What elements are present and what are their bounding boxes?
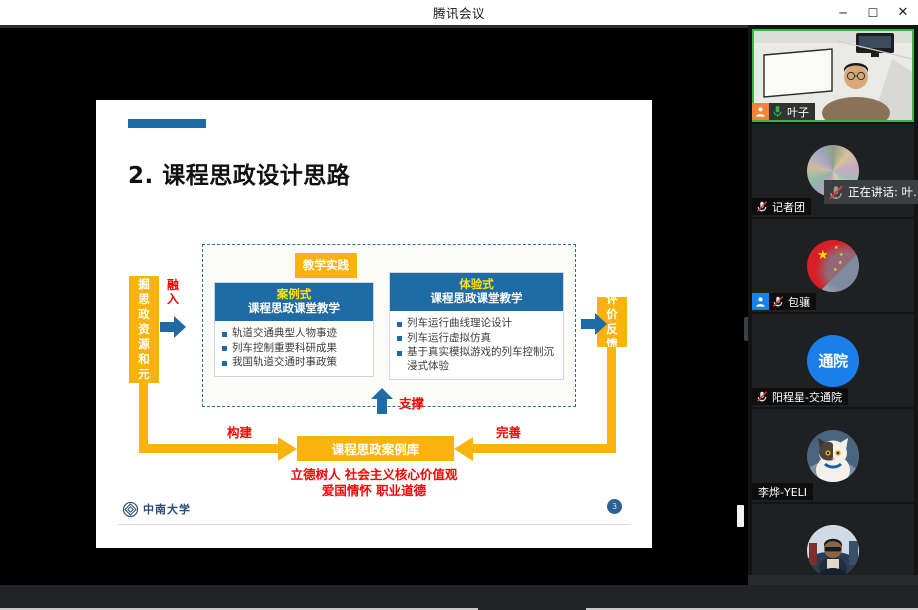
evaluation-box-label: 评价反馈 (605, 292, 619, 352)
title-bar: 腾讯会议 ─ ☐ ✕ (0, 0, 918, 25)
stage-top-strip (0, 25, 748, 28)
bullet-text: 轨道交通典型人物事迹 (232, 327, 337, 341)
bullet-square-icon (222, 361, 227, 366)
flow-line-right-horizontal (466, 444, 616, 453)
participant-rail[interactable]: 叶子 记者团 ★ ★ (748, 25, 918, 585)
bullet-text: 列车运行曲线理论设计 (407, 317, 512, 331)
bullet-text: 基于真实模拟游戏的列车控制沉浸式体验 (407, 346, 558, 373)
slogan-line-2: 爱国情怀 职业道德 (96, 483, 652, 499)
mic-on-icon (772, 105, 783, 118)
bullet-square-icon (222, 332, 227, 337)
bullet-item: 列车运行虚拟仿真 (397, 332, 558, 346)
card-experiential-sub: 课程思政课堂教学 (394, 291, 559, 306)
avatar: 通院 (807, 335, 859, 387)
university-logo-block: 中南大学 (123, 501, 191, 517)
star-icon: ★ (839, 252, 843, 258)
bullet-square-icon (397, 322, 402, 327)
flow-line-right-vertical (607, 347, 616, 449)
label-integrate: 融入 (166, 278, 180, 306)
participant-name: 包骧 (788, 294, 810, 310)
card-experiential-key: 体验式 (394, 277, 559, 291)
flow-line-left-horizontal (139, 444, 284, 453)
case-library-box: 课程思政案例库 (297, 436, 454, 461)
mic-muted-icon (828, 184, 844, 201)
window-controls: ─ ☐ ✕ (828, 0, 918, 25)
maximize-icon[interactable]: ☐ (858, 0, 888, 25)
slide-title: 2. 课程思政设计思路 (128, 156, 350, 190)
speaking-tooltip-text: 正在讲话: 叶… (848, 184, 918, 200)
participant-name: 李烨-YELI (758, 484, 807, 500)
participant-nameplate: 李烨-YELI (752, 483, 813, 500)
card-experiential-header: 体验式 课程思政课堂教学 (390, 273, 563, 311)
participant-tile[interactable]: 通院 阳程星-交通院 (752, 314, 914, 407)
participant-tile[interactable]: 叶子 (752, 29, 914, 122)
slide-page-number: 3 (607, 499, 622, 514)
bullet-square-icon (397, 336, 402, 341)
tencent-meeting-window: 腾讯会议 ─ ☐ ✕ 2. 课程思政设计思路 教学实践 挖掘思政资源和元素 融入 (0, 0, 918, 610)
university-seal-icon (123, 502, 138, 517)
slide-accent-bar (128, 119, 206, 128)
bullet-item: 我国轨道交通时事政策 (222, 356, 368, 370)
flow-line-left-vertical (139, 383, 148, 449)
participant-nameplate: 阳程星-交通院 (752, 388, 848, 405)
person-icon (752, 103, 769, 120)
window-title: 腾讯会议 (433, 3, 485, 22)
bullet-item: 轨道交通典型人物事迹 (222, 327, 368, 341)
person-avatar-art (807, 525, 859, 577)
participant-nameplate: 叶子 (752, 103, 815, 120)
slide-footer-divider (118, 524, 630, 525)
star-icon: ★ (838, 260, 842, 266)
speaking-tooltip: 正在讲话: 叶… (824, 180, 918, 204)
card-experiential-body: 列车运行曲线理论设计 列车运行虚拟仿真 基于真实模拟游戏的列车控制沉浸式体验 (390, 311, 563, 379)
label-support: 支撑 (399, 393, 424, 412)
arrow-right-icon-2 (581, 313, 607, 335)
minimize-icon[interactable]: ─ (828, 0, 858, 25)
stage-drag-handle[interactable] (737, 505, 744, 527)
bullet-square-icon (397, 351, 402, 356)
avatar: ★ ★ ★ ★ ★ (807, 240, 859, 292)
avatar (807, 430, 859, 482)
arrow-into-library-left-icon (278, 437, 297, 461)
card-case-study: 案例式 课程思政课堂教学 轨道交通典型人物事迹 列车控制重要科研成果 我国轨道交… (214, 282, 374, 377)
shared-screen-stage[interactable]: 2. 课程思政设计思路 教学实践 挖掘思政资源和元素 融入 案例式 课程思政课堂… (0, 25, 748, 585)
teaching-practice-tag: 教学实践 (295, 253, 357, 278)
bullet-text: 列车运行虚拟仿真 (407, 332, 491, 346)
bottom-toolbar[interactable] (0, 585, 918, 610)
arrow-right-icon-1 (160, 316, 186, 338)
bullet-text: 列车控制重要科研成果 (232, 342, 337, 356)
slogan-block: 立德树人 社会主义核心价值观 爱国情怀 职业道德 (96, 467, 652, 499)
avatar (807, 525, 859, 577)
university-name: 中南大学 (143, 501, 191, 517)
star-icon: ★ (817, 248, 829, 263)
label-perfect: 完善 (496, 422, 521, 441)
card-case-study-header: 案例式 课程思政课堂教学 (215, 283, 373, 321)
card-case-study-key: 案例式 (219, 287, 369, 301)
rail-bottom-edge (748, 575, 918, 585)
mic-muted-icon (772, 295, 784, 308)
bullet-item: 基于真实模拟游戏的列车控制沉浸式体验 (397, 346, 558, 373)
card-case-study-sub: 课程思政课堂教学 (219, 301, 369, 316)
arrow-into-library-right-icon (454, 437, 473, 461)
participant-tile[interactable]: ★ ★ ★ ★ ★ (752, 219, 914, 312)
slogan-line-1: 立德树人 社会主义核心价值观 (96, 467, 652, 483)
participant-nameplate: 包骧 (752, 293, 816, 310)
bullet-square-icon (222, 346, 227, 351)
close-icon[interactable]: ✕ (888, 0, 918, 25)
bullet-item: 列车运行曲线理论设计 (397, 317, 558, 331)
participant-name: 记者团 (772, 199, 805, 215)
participant-name: 叶子 (787, 104, 809, 120)
mic-muted-icon (756, 390, 768, 403)
participant-name: 阳程星-交通院 (772, 389, 842, 405)
label-build: 构建 (227, 422, 252, 441)
card-case-study-body: 轨道交通典型人物事迹 列车控制重要科研成果 我国轨道交通时事政策 (215, 321, 373, 376)
participant-tile[interactable]: 李烨-YELI (752, 409, 914, 502)
mic-muted-icon (756, 200, 768, 213)
source-box-label: 挖掘思政资源和元素 (137, 262, 151, 397)
presentation-slide: 2. 课程思政设计思路 教学实践 挖掘思政资源和元素 融入 案例式 课程思政课堂… (96, 100, 652, 548)
star-icon: ★ (833, 267, 837, 273)
cat-avatar-art (807, 430, 859, 482)
source-box: 挖掘思政资源和元素 (129, 276, 159, 383)
person-icon (752, 293, 769, 310)
bullet-item: 列车控制重要科研成果 (222, 342, 368, 356)
card-experiential: 体验式 课程思政课堂教学 列车运行曲线理论设计 列车运行虚拟仿真 基于真实模拟游… (389, 272, 564, 380)
participant-nameplate: 记者团 (752, 198, 811, 215)
arrow-up-icon (371, 388, 393, 414)
star-icon: ★ (834, 245, 838, 251)
avatar-initials: 通院 (818, 350, 847, 371)
bullet-text: 我国轨道交通时事政策 (232, 356, 337, 370)
case-library-label: 课程思政案例库 (332, 439, 420, 458)
